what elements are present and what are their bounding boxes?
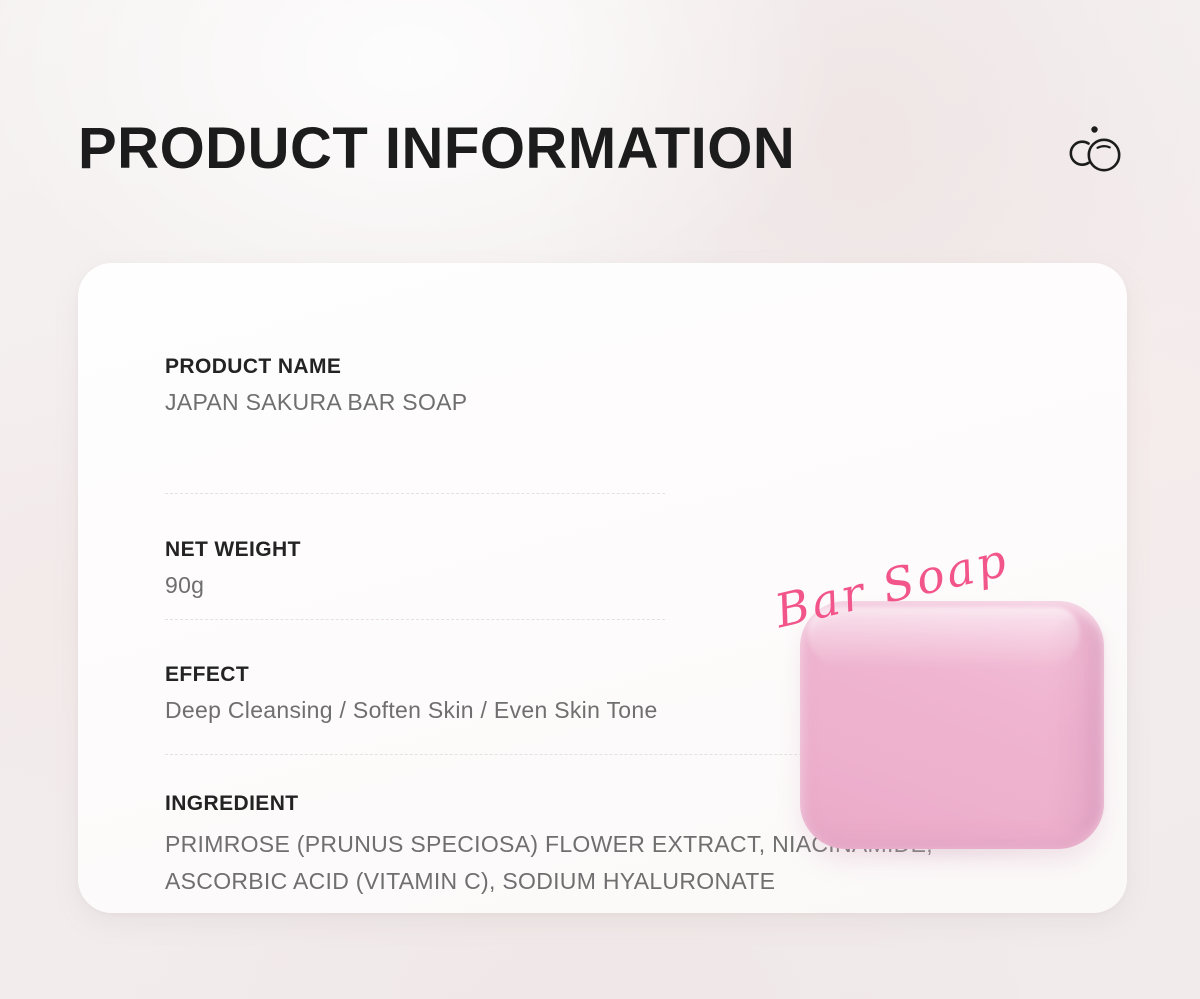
- info-row-net-weight: NET WEIGHT 90g: [165, 538, 301, 599]
- page-title: PRODUCT INFORMATION: [78, 120, 795, 178]
- product-name-label: PRODUCT NAME: [165, 355, 467, 379]
- product-name-value: JAPAN SAKURA BAR SOAP: [165, 389, 467, 416]
- soap-bubbles-icon: [1066, 122, 1124, 176]
- info-row-product-name: PRODUCT NAME JAPAN SAKURA BAR SOAP: [165, 355, 467, 416]
- product-image-area: Bar Soap: [768, 563, 1148, 883]
- bar-soap-image: [800, 601, 1104, 849]
- divider-2: [165, 619, 665, 620]
- net-weight-value: 90g: [165, 572, 301, 599]
- page-header: PRODUCT INFORMATION: [78, 104, 1140, 194]
- info-row-effect: EFFECT Deep Cleansing / Soften Skin / Ev…: [165, 663, 658, 724]
- effect-label: EFFECT: [165, 663, 658, 687]
- divider-1: [165, 493, 665, 494]
- product-information-page: PRODUCT INFORMATION PRODUCT NAME JAPAN S…: [0, 0, 1200, 999]
- effect-value: Deep Cleansing / Soften Skin / Even Skin…: [165, 697, 658, 724]
- product-info-card: PRODUCT NAME JAPAN SAKURA BAR SOAP NET W…: [78, 263, 1127, 913]
- net-weight-label: NET WEIGHT: [165, 538, 301, 562]
